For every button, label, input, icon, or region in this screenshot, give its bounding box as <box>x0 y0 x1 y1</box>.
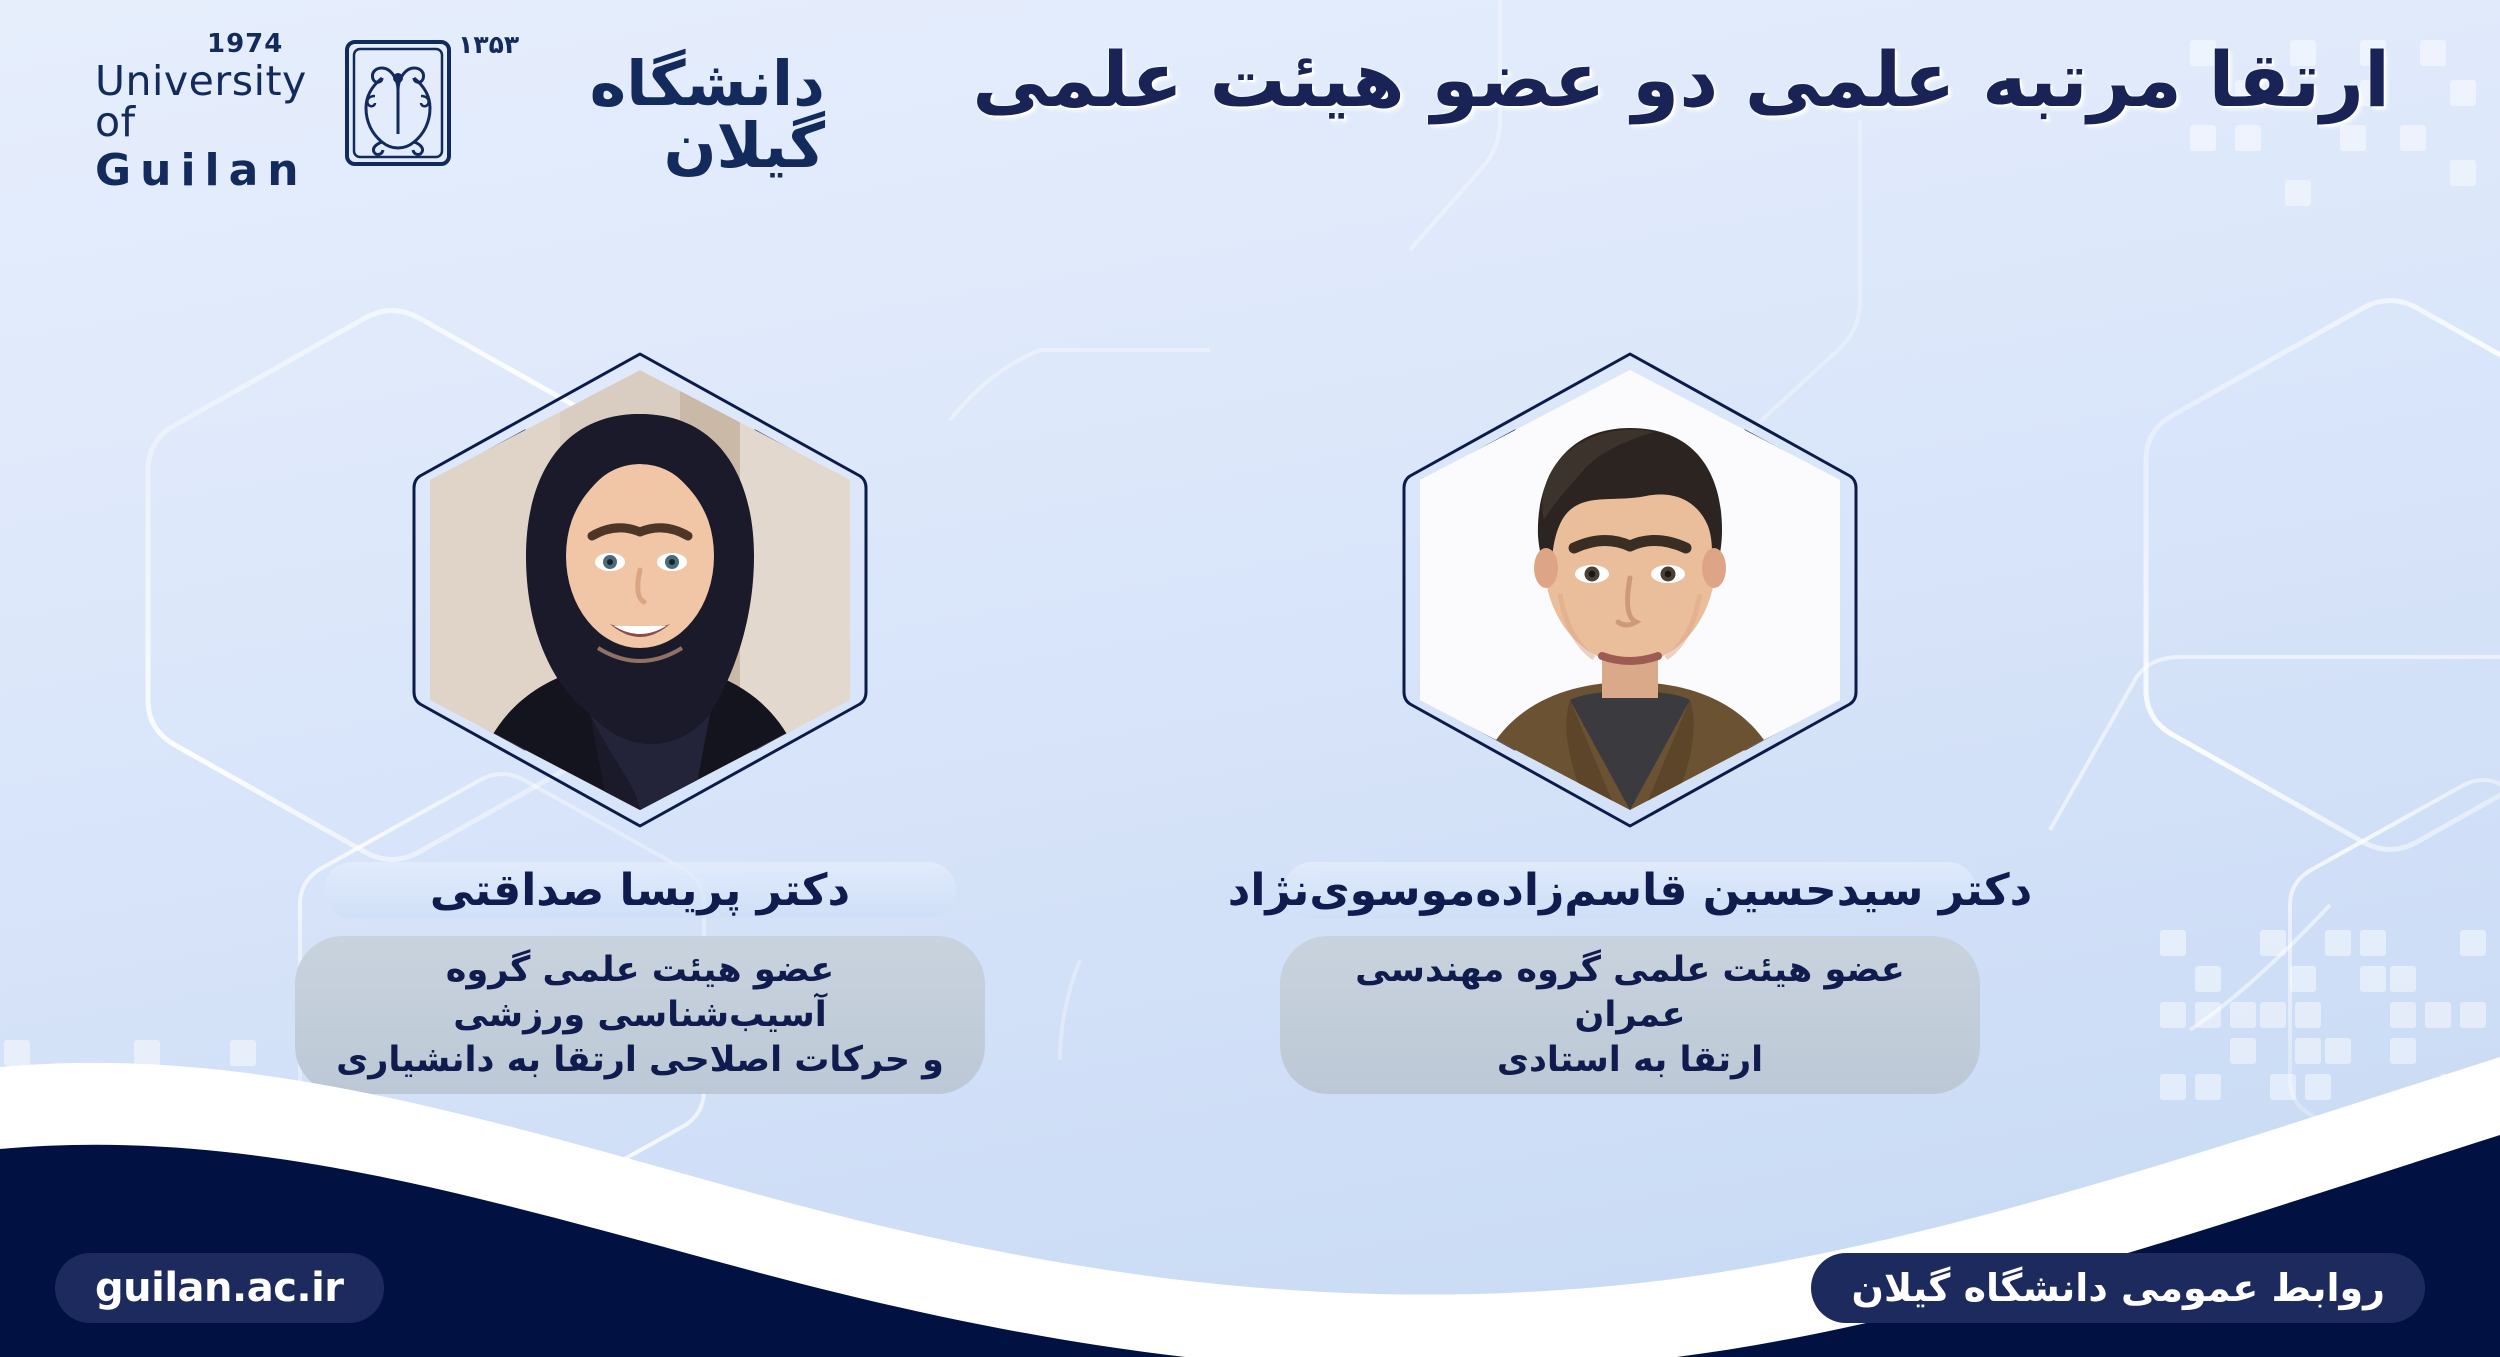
public-relations-text: روابط عمومی دانشگاه گیلان <box>1851 1266 2385 1310</box>
person-name-pill-2: دکتر سیدحسین قاسم‌زاده‌موسوی‌نژاد <box>1280 858 1980 922</box>
person-name-pill-1: دکتر پریسا صداقتی <box>320 858 960 922</box>
logo-year-en: 1974 <box>207 31 283 57</box>
website-url-text: guilan.ac.ir <box>95 1265 344 1311</box>
university-logo: 1974 University of Guilan ۱۳۵۳ دانشگاه گ… <box>95 38 825 168</box>
poster-root: 1974 University of Guilan ۱۳۵۳ دانشگاه گ… <box>0 0 2500 1357</box>
logo-guilan: Guilan <box>95 149 308 193</box>
guilan-emblem-icon <box>342 38 454 168</box>
person-name-2: دکتر سیدحسین قاسم‌زاده‌موسوی‌نژاد <box>1228 865 2032 916</box>
logo-persian-text: ۱۳۵۳ دانشگاه گیلان <box>458 30 825 177</box>
portrait-hexagon-2 <box>1420 370 1840 810</box>
logo-english-text: 1974 University of Guilan <box>95 13 328 193</box>
logo-university-of: University of <box>95 61 328 143</box>
portrait-hexagon-1 <box>430 370 850 810</box>
person-name-1: دکتر پریسا صداقتی <box>430 865 850 916</box>
logo-name-fa: دانشگاه گیلان <box>458 53 825 177</box>
public-relations-pill: روابط عمومی دانشگاه گیلان <box>1811 1253 2425 1323</box>
page-title: ارتقا مرتبه علمی دو عضو هیئت علمی <box>970 26 2390 134</box>
website-url-pill[interactable]: guilan.ac.ir <box>55 1253 384 1323</box>
